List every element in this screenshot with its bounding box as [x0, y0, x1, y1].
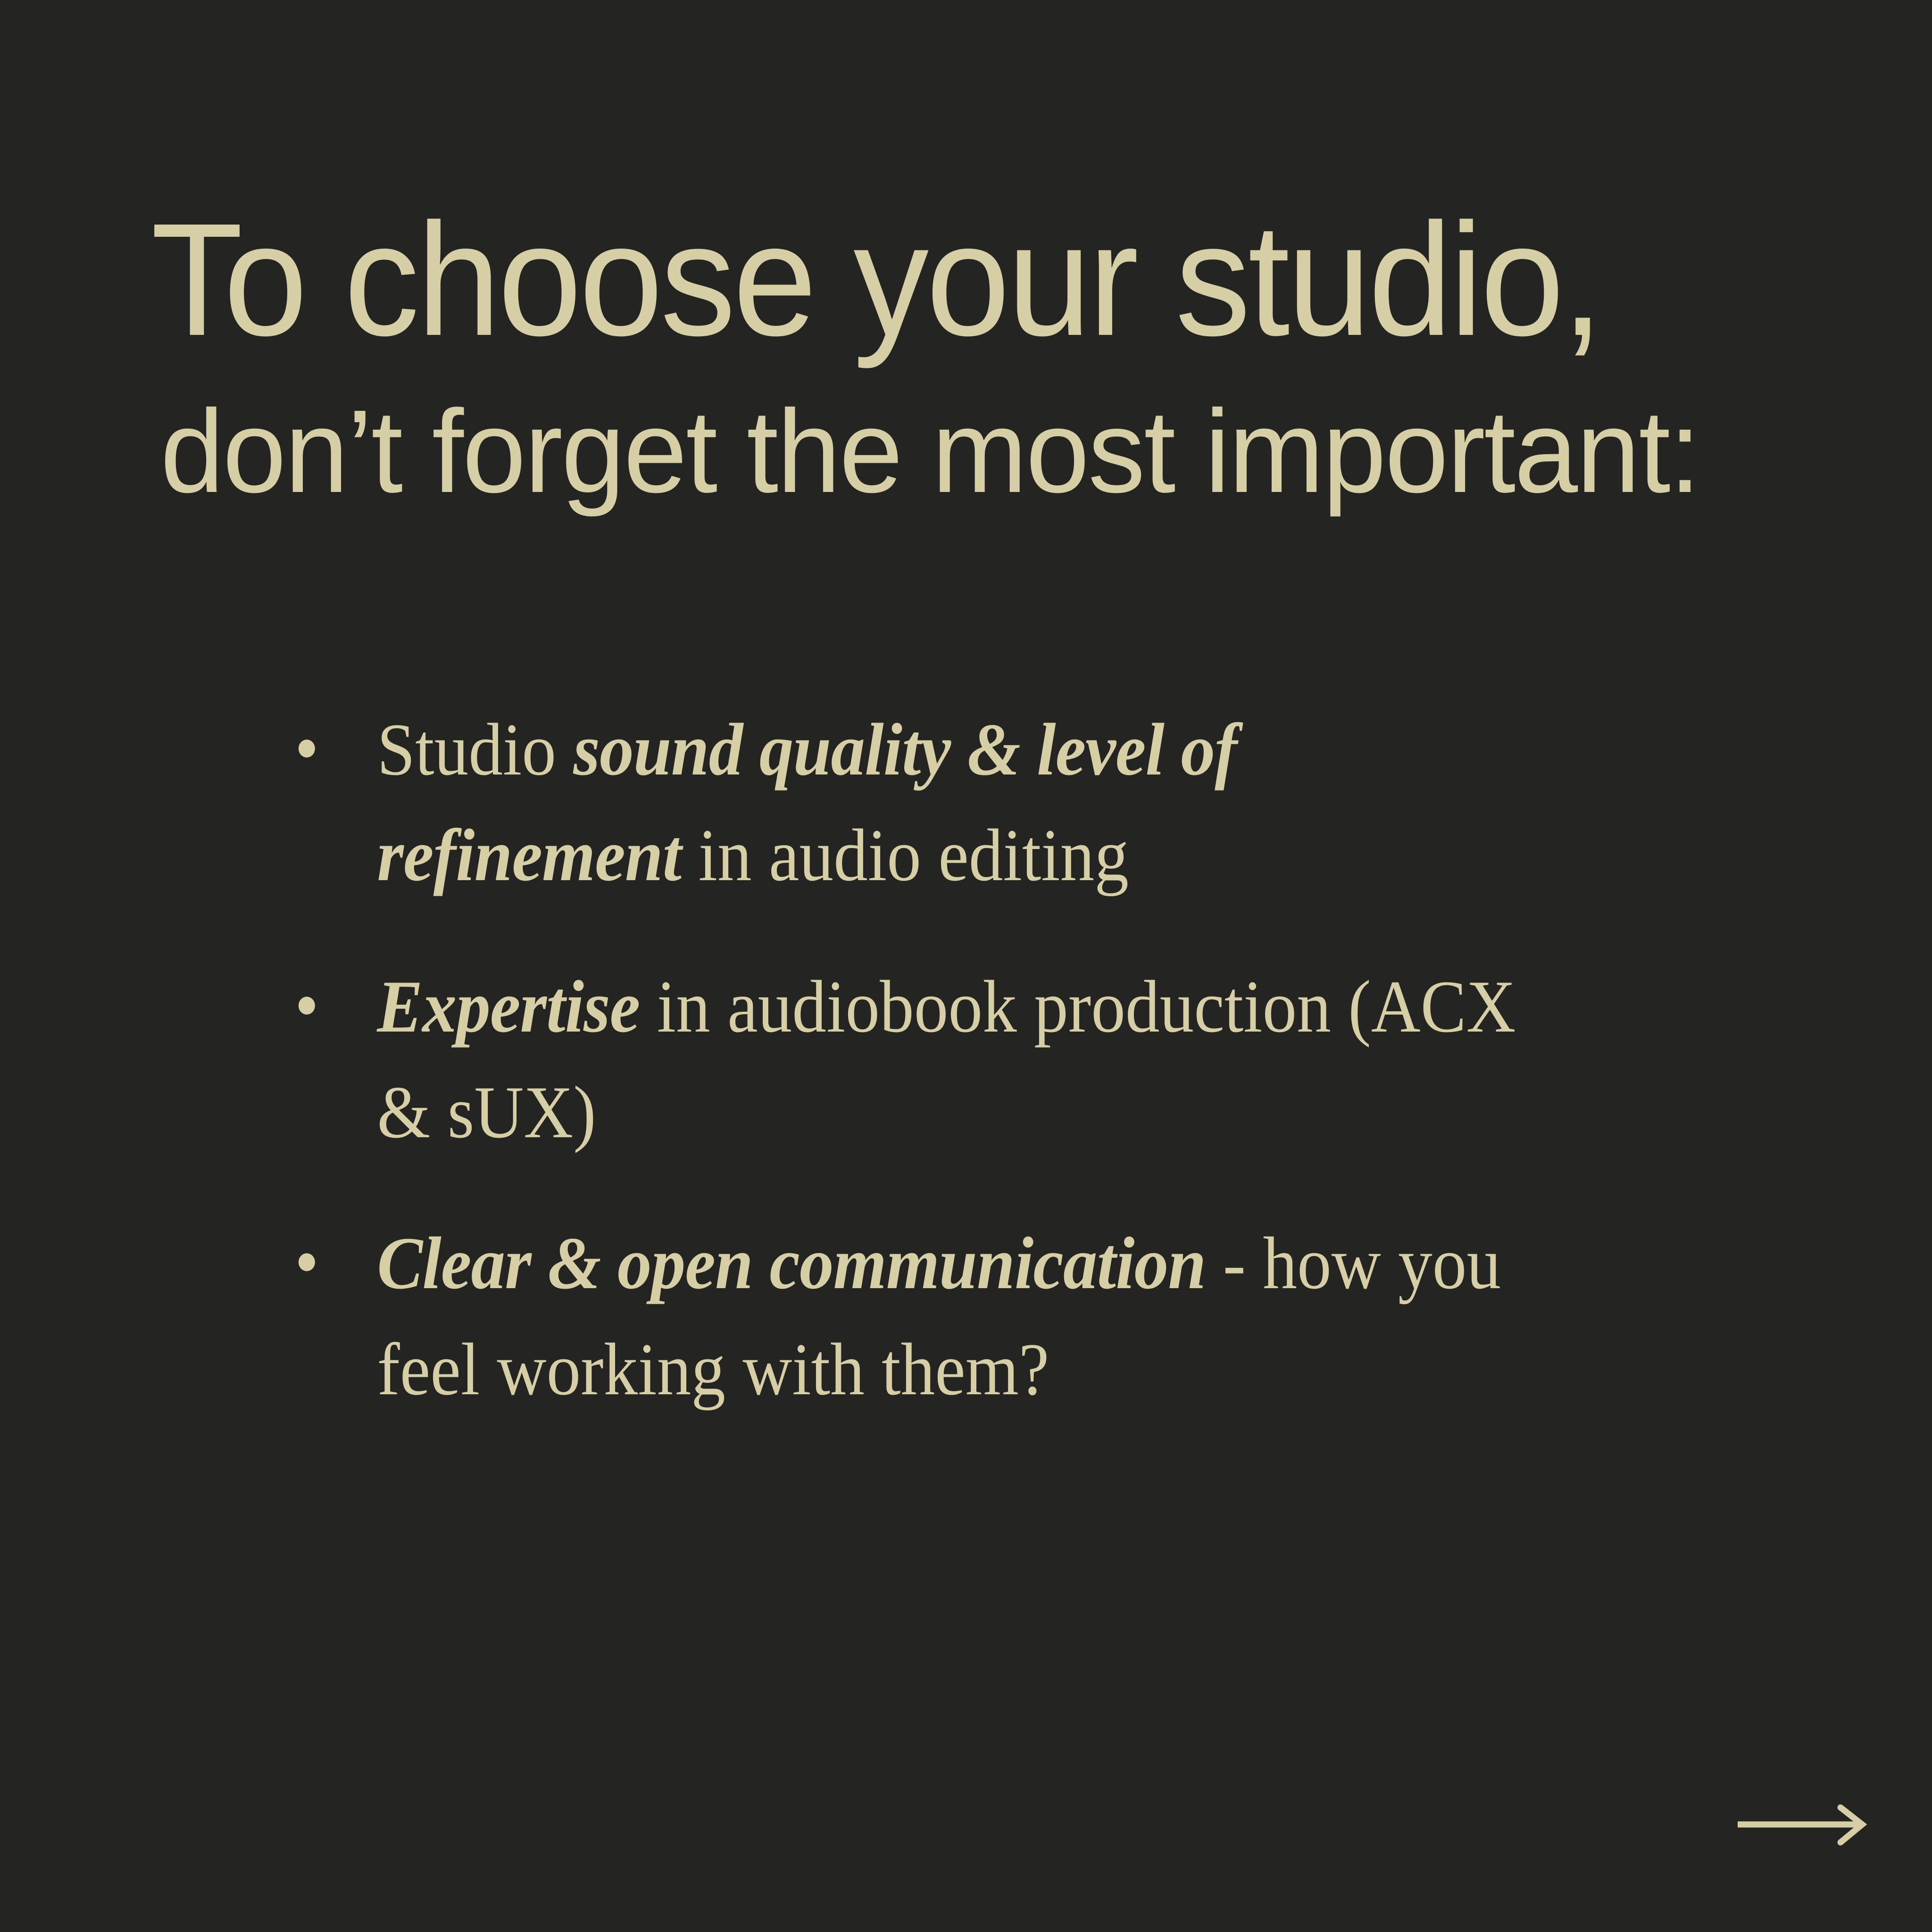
- heading-line-2: don’t forget the most important:: [160, 372, 1753, 531]
- page-title: To choose your studio, don’t forget the …: [151, 189, 1802, 531]
- list-item-text: Studio sound quality & level of refineme…: [377, 708, 1237, 897]
- list-item: Clear & open communication - how you fee…: [292, 1211, 1551, 1423]
- bullet-dot-icon: [299, 740, 315, 758]
- list-item: Studio sound quality & level of refineme…: [292, 697, 1551, 909]
- list-item-text: Clear & open communication - how you fee…: [377, 1222, 1501, 1410]
- bullet-dot-icon: [299, 1253, 315, 1271]
- slide-canvas: To choose your studio, don’t forget the …: [0, 0, 1932, 1932]
- bullet-list: Studio sound quality & level of refineme…: [292, 697, 1660, 1423]
- bullet-dot-icon: [299, 997, 315, 1015]
- heading-line-1: To choose your studio,: [151, 189, 1703, 372]
- next-slide-button[interactable]: [1736, 1802, 1873, 1854]
- arrow-right-icon: [1736, 1802, 1873, 1854]
- list-item-text: Expertise in audiobook production (ACX &…: [377, 966, 1516, 1154]
- list-item: Expertise in audiobook production (ACX &…: [292, 954, 1551, 1166]
